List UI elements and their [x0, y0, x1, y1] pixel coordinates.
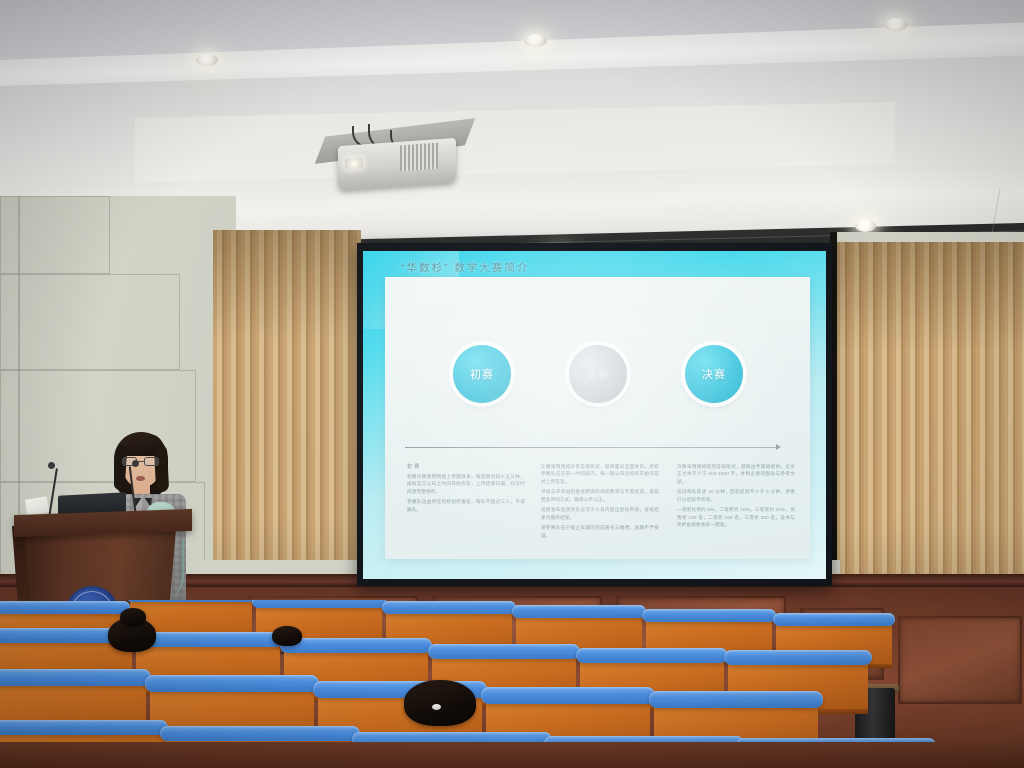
presenter-hair-side	[154, 446, 169, 493]
audience-head	[120, 608, 146, 626]
microphone-head	[132, 460, 139, 467]
floor	[0, 742, 1024, 768]
column-paragraph: 初赛作赛使用网络上传题目本，每题限时四十五分钟，按照官方公布之时间开始作答，上传…	[407, 473, 525, 495]
audience-head	[272, 626, 302, 646]
pin-head: 复赛	[569, 345, 627, 403]
projector-vent-grill	[400, 143, 438, 172]
timeline-axis	[405, 447, 777, 448]
pin-head: 决赛	[685, 345, 743, 403]
column-paragraph: 比赛采用网络开卷答题形式，题目面向全国发布，所有参赛队伍在同一时间段内，每一题公…	[541, 463, 659, 485]
column-paragraph: 成绩发布后获奖队伍可于十日内提出复核申请，复核结果为最终结果。	[541, 506, 659, 521]
stage-pin-semifinal[interactable]: 复赛	[569, 345, 627, 417]
column-paragraph: 评阅与评审由组委会聘请的高校教师与专家组成，采取匿名评阅方式，确保公平公正。	[541, 488, 659, 503]
timeline-arrowhead	[776, 444, 781, 450]
hair-clip	[432, 704, 441, 710]
projection-screen: “华数杉” 数学大赛简介 初赛 复赛	[357, 243, 832, 586]
printed-notes	[25, 496, 49, 515]
slide-text-column-1: 初 赛 初赛作赛使用网络上传题目本，每题限时四十五分钟，按照官方公布之时间开始作…	[407, 463, 525, 513]
column-paragraph: 一等奖比例约 5%，二等奖约 10%，三等奖约 20%，优秀奖 150 名，二等…	[677, 506, 795, 528]
presentation-slide: “华数杉” 数学大赛简介 初赛 复赛	[363, 251, 826, 579]
stage-label: 决赛	[702, 366, 726, 382]
slide-text-column-3: 决赛采用网络现场答辩形式，题目由专家组提供，论文正文共不少于 800-1500 …	[677, 463, 795, 529]
ceiling-downlight	[196, 54, 218, 66]
stage-pin-preliminary[interactable]: 初赛	[453, 345, 511, 417]
stage-label: 复赛	[586, 366, 610, 382]
presenter-mouth	[136, 476, 145, 481]
eyeglasses-icon	[122, 457, 161, 467]
slide-content-card: “华数杉” 数学大赛简介 初赛 复赛	[385, 277, 810, 559]
column-paragraph: 答辩每队陈述 10 分钟，回答提问不少于 5 分钟，评委打分后取平均值。	[677, 488, 795, 503]
audience-head	[404, 680, 476, 726]
ceiling-downlight	[855, 220, 876, 232]
stage-pin-final[interactable]: 决赛	[685, 345, 743, 417]
slide-title: “华数杉” 数学大赛简介	[401, 260, 529, 275]
slide-text-column-2: 比赛采用网络开卷答题形式，题目面向全国发布，所有参赛队伍在同一时间段内，每一题公…	[541, 463, 659, 539]
pin-head: 初赛	[453, 345, 511, 403]
projector-lens	[345, 157, 363, 169]
ceiling-downlight	[884, 18, 908, 31]
column-heading: 初 赛	[407, 463, 525, 470]
lecture-hall-photograph: “华数杉” 数学大赛简介 初赛 复赛	[0, 0, 1024, 768]
ceiling-downlight	[524, 34, 547, 47]
column-paragraph: 参赛队伍由所在院校组织报名，每队不超过三人，不得跳队。	[407, 498, 525, 513]
microphone-head	[48, 462, 55, 469]
column-paragraph: 决赛采用网络现场答辩形式，题目由专家组提供，论文正文共不少于 800-1500 …	[677, 463, 795, 485]
column-paragraph: 请参赛队伍于截止日期前完成报名与缴费，逾期不予受理。	[541, 524, 659, 539]
stage-label: 初赛	[470, 366, 494, 382]
